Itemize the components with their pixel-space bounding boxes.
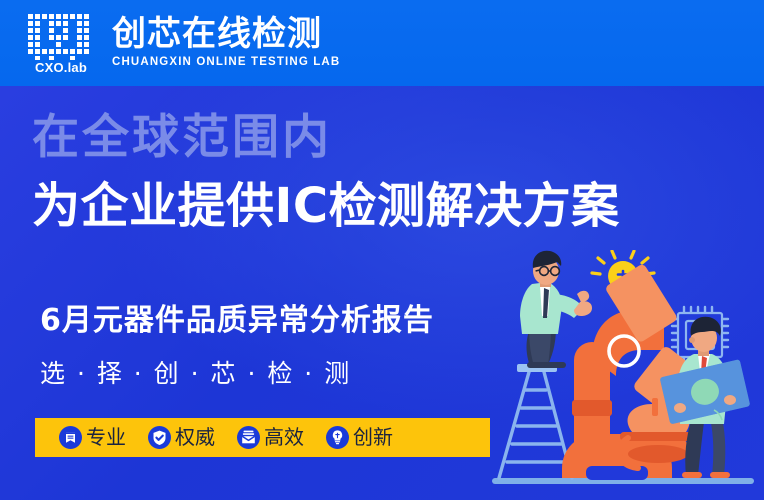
badge-label: 权威 xyxy=(175,426,215,449)
microscope-lab-illustration xyxy=(474,250,764,500)
book-icon xyxy=(59,426,82,449)
promo-title: 6月元器件品质异常分析报告 xyxy=(40,303,434,339)
hero-line-2: 为企业提供IC检测解决方案 xyxy=(32,178,620,234)
cxo-pixel-logo-icon xyxy=(24,14,98,62)
badge-chuangxin[interactable]: 创新 xyxy=(326,426,393,449)
badge-label: 创新 xyxy=(353,426,393,449)
mail-stack-icon xyxy=(237,426,260,449)
logo-mark: CXO.lab xyxy=(24,14,98,76)
badge-quanwei[interactable]: 权威 xyxy=(148,426,215,449)
logo-sub-label: CXO.lab xyxy=(24,60,98,75)
brand-name-cn: 创芯在线检测 xyxy=(112,15,340,53)
promo-slogan: 选 · 择 · 创 · 芯 · 检 · 测 xyxy=(40,358,351,390)
badge-label: 专业 xyxy=(86,426,126,449)
badge-zhuanye[interactable]: 专业 xyxy=(59,426,126,449)
badge-gaoxiao[interactable]: 高效 xyxy=(237,426,304,449)
badge-label: 高效 xyxy=(264,426,304,449)
promo-banner: CXO.lab 创芯在线检测 CHUANGXIN ONLINE TESTING … xyxy=(0,0,764,500)
hero-line-1: 在全球范围内 xyxy=(32,112,332,164)
brand-logo[interactable]: CXO.lab 创芯在线检测 CHUANGXIN ONLINE TESTING … xyxy=(24,14,340,72)
lightbulb-icon xyxy=(326,426,349,449)
feature-badge-bar: 专业 权威 高效 xyxy=(35,418,490,457)
brand-name-en: CHUANGXIN ONLINE TESTING LAB xyxy=(112,55,340,70)
shield-check-icon xyxy=(148,426,171,449)
brand-text: 创芯在线检测 CHUANGXIN ONLINE TESTING LAB xyxy=(112,14,340,70)
step-ladder xyxy=(499,372,572,478)
